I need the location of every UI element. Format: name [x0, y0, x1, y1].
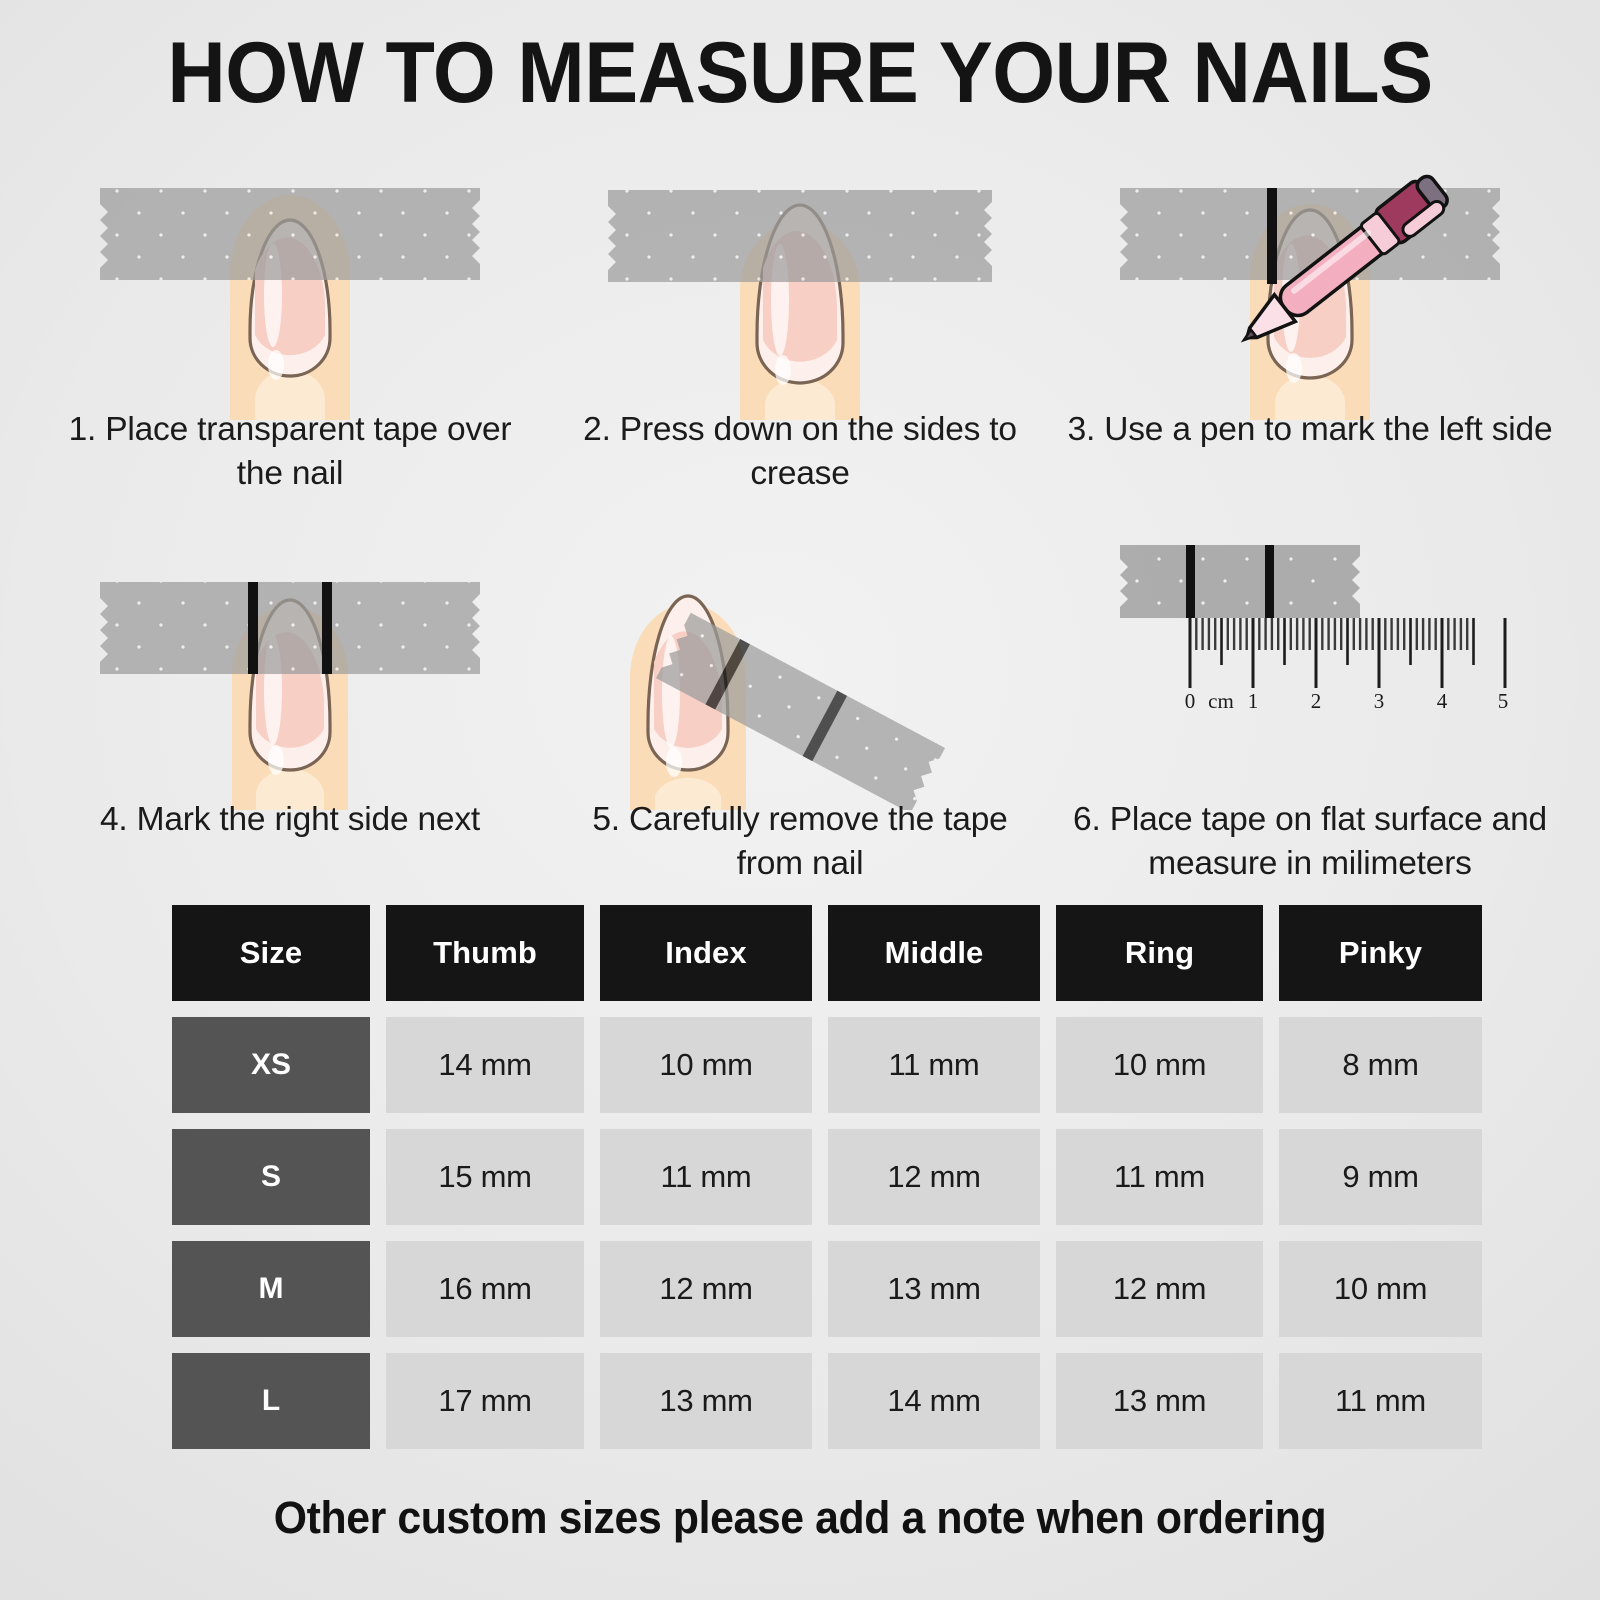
table-header-thumb: Thumb [386, 905, 584, 1001]
ruler-tick-4: 4 [1437, 689, 1448, 713]
ruler-tick-3: 3 [1374, 689, 1385, 713]
table-header-index: Index [600, 905, 812, 1001]
finger-tape-removed-illustration [600, 510, 1000, 810]
step-4-illustration [90, 510, 490, 806]
table-cell: 13 mm [1056, 1353, 1263, 1449]
table-cell: 9 mm [1279, 1129, 1482, 1225]
finger-tape-creased-illustration [600, 120, 1000, 420]
tape-mark-right [1265, 545, 1274, 618]
ruler-ticks [1190, 618, 1505, 688]
step-6: 0 cm 1 2 3 4 5 6. Place tape on flat sur… [1055, 510, 1565, 900]
finger-with-tape-illustration [90, 120, 490, 420]
finger-tape-pen-illustration [1110, 120, 1510, 420]
footer-note: Other custom sizes please add a note whe… [40, 1492, 1560, 1544]
ruler-tick-0: 0 [1185, 689, 1196, 713]
step-4: 4. Mark the right side next [35, 510, 545, 900]
tape-strip-measured [1120, 545, 1360, 618]
table-cell: 14 mm [828, 1353, 1040, 1449]
step-6-caption: 6. Place tape on flat surface and measur… [1065, 798, 1555, 886]
right-nail-mark [322, 582, 332, 674]
tape-strip [100, 582, 480, 674]
table-header-size: Size [172, 905, 370, 1001]
ruler-tick-1: 1 [1248, 689, 1259, 713]
finger-tape-two-marks-illustration [90, 510, 490, 810]
table-cell: 11 mm [1279, 1353, 1482, 1449]
ruler-tick-2: 2 [1311, 689, 1322, 713]
table-cell: 10 mm [600, 1017, 812, 1113]
size-table: Size Thumb Index Middle Ring Pinky XS 14… [172, 905, 1440, 1449]
step-5: 5. Carefully remove the tape from nail [545, 510, 1055, 900]
step-4-caption: 4. Mark the right side next [45, 798, 535, 842]
step-1-caption: 1. Place transparent tape over the nail [45, 408, 535, 496]
left-nail-mark [1267, 188, 1277, 284]
left-nail-mark [248, 582, 258, 674]
step-5-caption: 5. Carefully remove the tape from nail [555, 798, 1045, 886]
table-header-middle: Middle [828, 905, 1040, 1001]
table-cell: 12 mm [600, 1241, 812, 1337]
tape-mark-left [1186, 545, 1195, 618]
tape-strip [100, 188, 480, 280]
table-cell: 12 mm [1056, 1241, 1263, 1337]
step-3: 3. Use a pen to mark the left side [1055, 120, 1565, 510]
table-cell: 16 mm [386, 1241, 584, 1337]
table-cell: 11 mm [600, 1129, 812, 1225]
table-cell: 17 mm [386, 1353, 584, 1449]
step-6-illustration: 0 cm 1 2 3 4 5 [1110, 510, 1510, 806]
table-header-ring: Ring [1056, 905, 1263, 1001]
ruler-tick-5: 5 [1498, 689, 1509, 713]
table-cell: 8 mm [1279, 1017, 1482, 1113]
table-cell: 11 mm [1056, 1129, 1263, 1225]
table-row: S [172, 1129, 370, 1225]
table-cell: 11 mm [828, 1017, 1040, 1113]
step-2: 2. Press down on the sides to crease [545, 120, 1055, 510]
table-cell: 13 mm [600, 1353, 812, 1449]
step-1-illustration [90, 120, 490, 416]
step-3-caption: 3. Use a pen to mark the left side [1065, 408, 1555, 452]
tape-strip-creased [608, 190, 992, 282]
table-row: XS [172, 1017, 370, 1113]
step-2-caption: 2. Press down on the sides to crease [555, 408, 1045, 496]
page-title: HOW TO MEASURE YOUR NAILS [48, 28, 1552, 118]
table-cell: 15 mm [386, 1129, 584, 1225]
ruler-labels: 0 cm 1 2 3 4 5 [1185, 689, 1509, 713]
table-row: M [172, 1241, 370, 1337]
step-3-illustration [1110, 120, 1510, 416]
table-cell: 10 mm [1056, 1017, 1263, 1113]
step-5-illustration [600, 510, 1000, 806]
table-cell: 12 mm [828, 1129, 1040, 1225]
step-1: 1. Place transparent tape over the nail [35, 120, 545, 510]
ruler-unit-label: cm [1208, 689, 1234, 713]
table-header-pinky: Pinky [1279, 905, 1482, 1001]
table-cell: 13 mm [828, 1241, 1040, 1337]
table-row: L [172, 1353, 370, 1449]
tape-on-ruler-illustration: 0 cm 1 2 3 4 5 [1110, 510, 1510, 810]
table-cell: 14 mm [386, 1017, 584, 1113]
steps-grid: 1. Place transparent tape over the nail [35, 120, 1565, 900]
step-2-illustration [600, 120, 1000, 416]
table-cell: 10 mm [1279, 1241, 1482, 1337]
